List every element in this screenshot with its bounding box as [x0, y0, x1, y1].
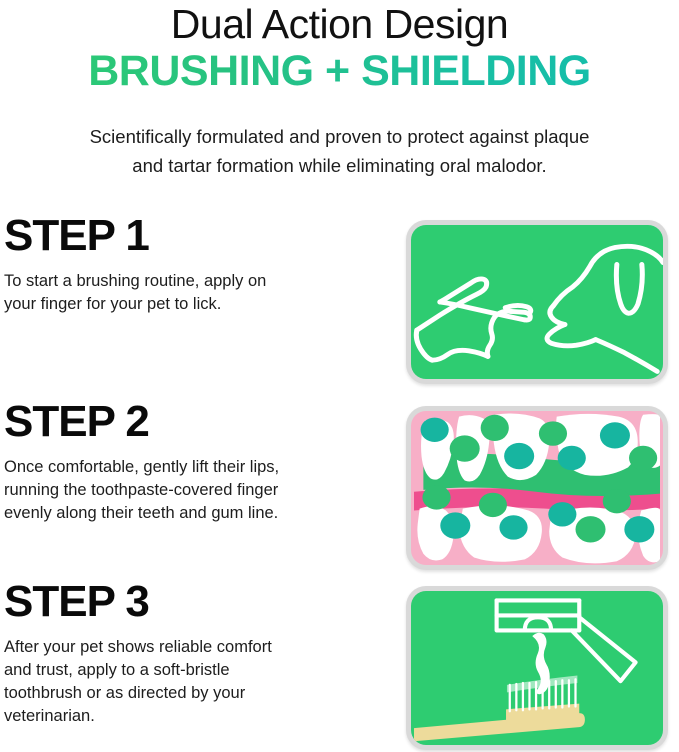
headline-secondary: BRUSHING + SHIELDING	[0, 46, 679, 96]
step-3-panel-frame	[406, 586, 668, 750]
step-1-title: STEP 1	[4, 212, 402, 260]
step-2-title: STEP 2	[4, 398, 402, 446]
steps-section: STEP 1 To start a brushing routine, appl…	[0, 212, 679, 752]
step-2-body-line-2: running the toothpaste-covered finger	[4, 479, 402, 502]
step-3-body-line-2: and trust, apply to a soft-bristle	[4, 659, 402, 682]
step-row: STEP 2 Once comfortable, gently lift the…	[0, 398, 679, 578]
step-1-body-line-1: To start a brushing routine, apply on	[4, 270, 402, 293]
infographic-page: Dual Action Design BRUSHING + SHIELDING …	[0, 0, 679, 752]
step-3-body: After your pet shows reliable comfort an…	[4, 636, 402, 728]
step-2-body-line-1: Once comfortable, gently lift their lips…	[4, 456, 402, 479]
subheadline-line-1: Scientifically formulated and proven to …	[14, 122, 665, 151]
toothpaste-tube-toothbrush-icon	[411, 591, 663, 745]
step-1-panel-frame	[406, 220, 668, 384]
step-3-title: STEP 3	[4, 578, 402, 626]
teeth-gums-toothpaste-icon	[411, 411, 663, 565]
step-2-text-block: STEP 2 Once comfortable, gently lift the…	[4, 398, 402, 525]
step-3-body-line-4: veterinarian.	[4, 705, 402, 728]
step-3-body-line-1: After your pet shows reliable comfort	[4, 636, 402, 659]
step-2-body-line-3: evenly along their teeth and gum line.	[4, 502, 402, 525]
step-1-text-block: STEP 1 To start a brushing routine, appl…	[4, 212, 402, 316]
step-1-body: To start a brushing routine, apply on yo…	[4, 270, 402, 316]
step-1-body-line-2: your finger for your pet to lick.	[4, 293, 402, 316]
step-1-panel	[411, 225, 663, 379]
step-3-panel	[411, 591, 663, 745]
step-row: STEP 3 After your pet shows reliable com…	[0, 578, 679, 752]
headline-primary: Dual Action Design	[0, 2, 679, 46]
header: Dual Action Design BRUSHING + SHIELDING …	[0, 0, 679, 180]
step-row: STEP 1 To start a brushing routine, appl…	[0, 212, 679, 398]
step-2-panel	[411, 411, 663, 565]
step-3-body-line-3: toothbrush or as directed by your	[4, 682, 402, 705]
step-2-body: Once comfortable, gently lift their lips…	[4, 456, 402, 525]
step-2-panel-frame	[406, 406, 668, 570]
step-3-text-block: STEP 3 After your pet shows reliable com…	[4, 578, 402, 728]
hand-finger-dog-lick-icon	[411, 225, 663, 379]
subheadline: Scientifically formulated and proven to …	[0, 122, 679, 180]
subheadline-line-2: and tartar formation while eliminating o…	[14, 151, 665, 180]
